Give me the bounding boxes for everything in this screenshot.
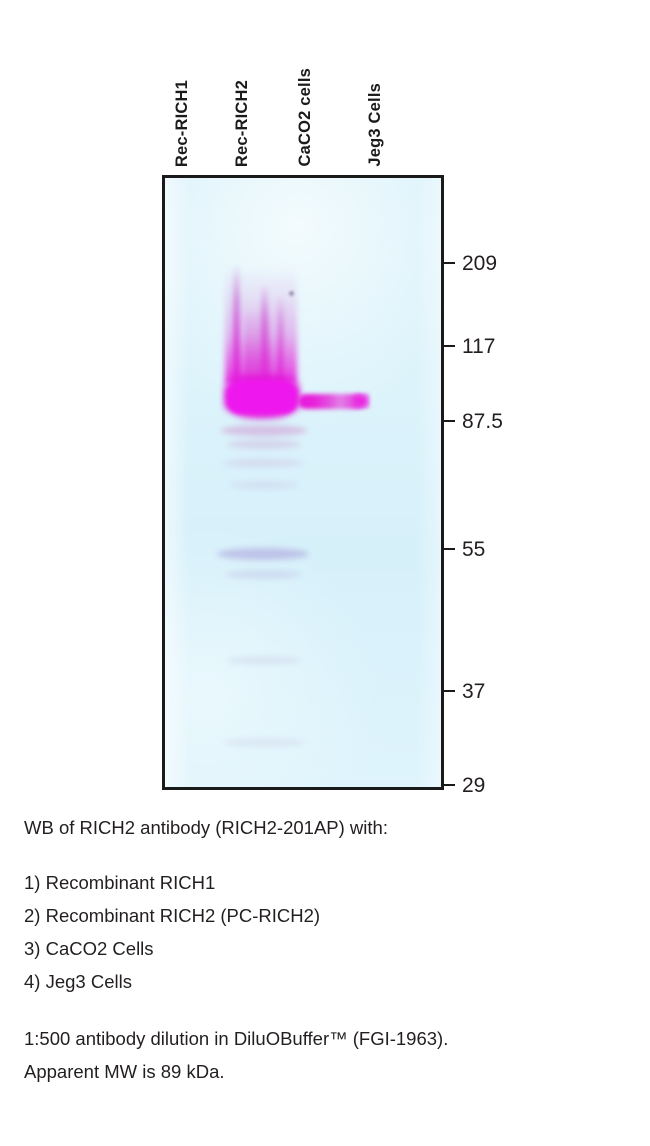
blot-membrane: [162, 175, 444, 790]
figure-caption: WB of RICH2 antibody (RICH2-201AP) with:…: [24, 812, 624, 1088]
mw-tick-icon: [444, 420, 455, 422]
mw-tick-icon: [444, 345, 455, 347]
membrane-edge-sheen: [165, 178, 441, 787]
mw-marker-117: 117: [444, 335, 495, 357]
list-item: 3) CaCO2 Cells: [24, 933, 624, 966]
caption-mw-line: Apparent MW is 89 kDa.: [24, 1056, 624, 1089]
caption-lead: WB of RICH2 antibody (RICH2-201AP) with:: [24, 812, 624, 845]
lane-label-2: Rec-RICH2: [234, 80, 251, 167]
lane-label-1: Rec-RICH1: [174, 80, 191, 167]
mw-value: 209: [462, 253, 497, 274]
mw-tick-icon: [444, 548, 455, 550]
caption-sample-list: 1) Recombinant RICH1 2) Recombinant RICH…: [24, 867, 624, 999]
mw-marker-209: 209: [444, 252, 497, 274]
mw-marker-55: 55: [444, 538, 485, 560]
mw-marker-37: 37: [444, 680, 485, 702]
mw-value: 117: [462, 336, 495, 357]
caption-note: 1:500 antibody dilution in DiluOBuffer™ …: [24, 1023, 624, 1089]
mw-value: 37: [462, 681, 485, 702]
mw-value: 55: [462, 539, 485, 560]
mw-tick-icon: [444, 784, 455, 786]
mw-marker-87-5: 87.5: [444, 410, 503, 432]
mw-tick-icon: [444, 262, 455, 264]
list-item: 1) Recombinant RICH1: [24, 867, 624, 900]
lane-label-4: Jeg3 Cells: [367, 83, 384, 167]
lane-label-row: Rec-RICH1 Rec-RICH2 CaCO2 cells Jeg3 Cel…: [162, 0, 444, 175]
mw-marker-29: 29: [444, 774, 485, 796]
mw-value: 29: [462, 775, 485, 796]
list-item: 4) Jeg3 Cells: [24, 966, 624, 999]
caption-dilution-line: 1:500 antibody dilution in DiluOBuffer™ …: [24, 1023, 624, 1056]
molecular-weight-ladder: 20911787.5553729: [444, 175, 564, 790]
list-item: 2) Recombinant RICH2 (PC-RICH2): [24, 900, 624, 933]
lane-label-3: CaCO2 cells: [297, 68, 314, 167]
blot-image: [165, 178, 441, 787]
mw-value: 87.5: [462, 411, 503, 432]
mw-tick-icon: [444, 690, 455, 692]
